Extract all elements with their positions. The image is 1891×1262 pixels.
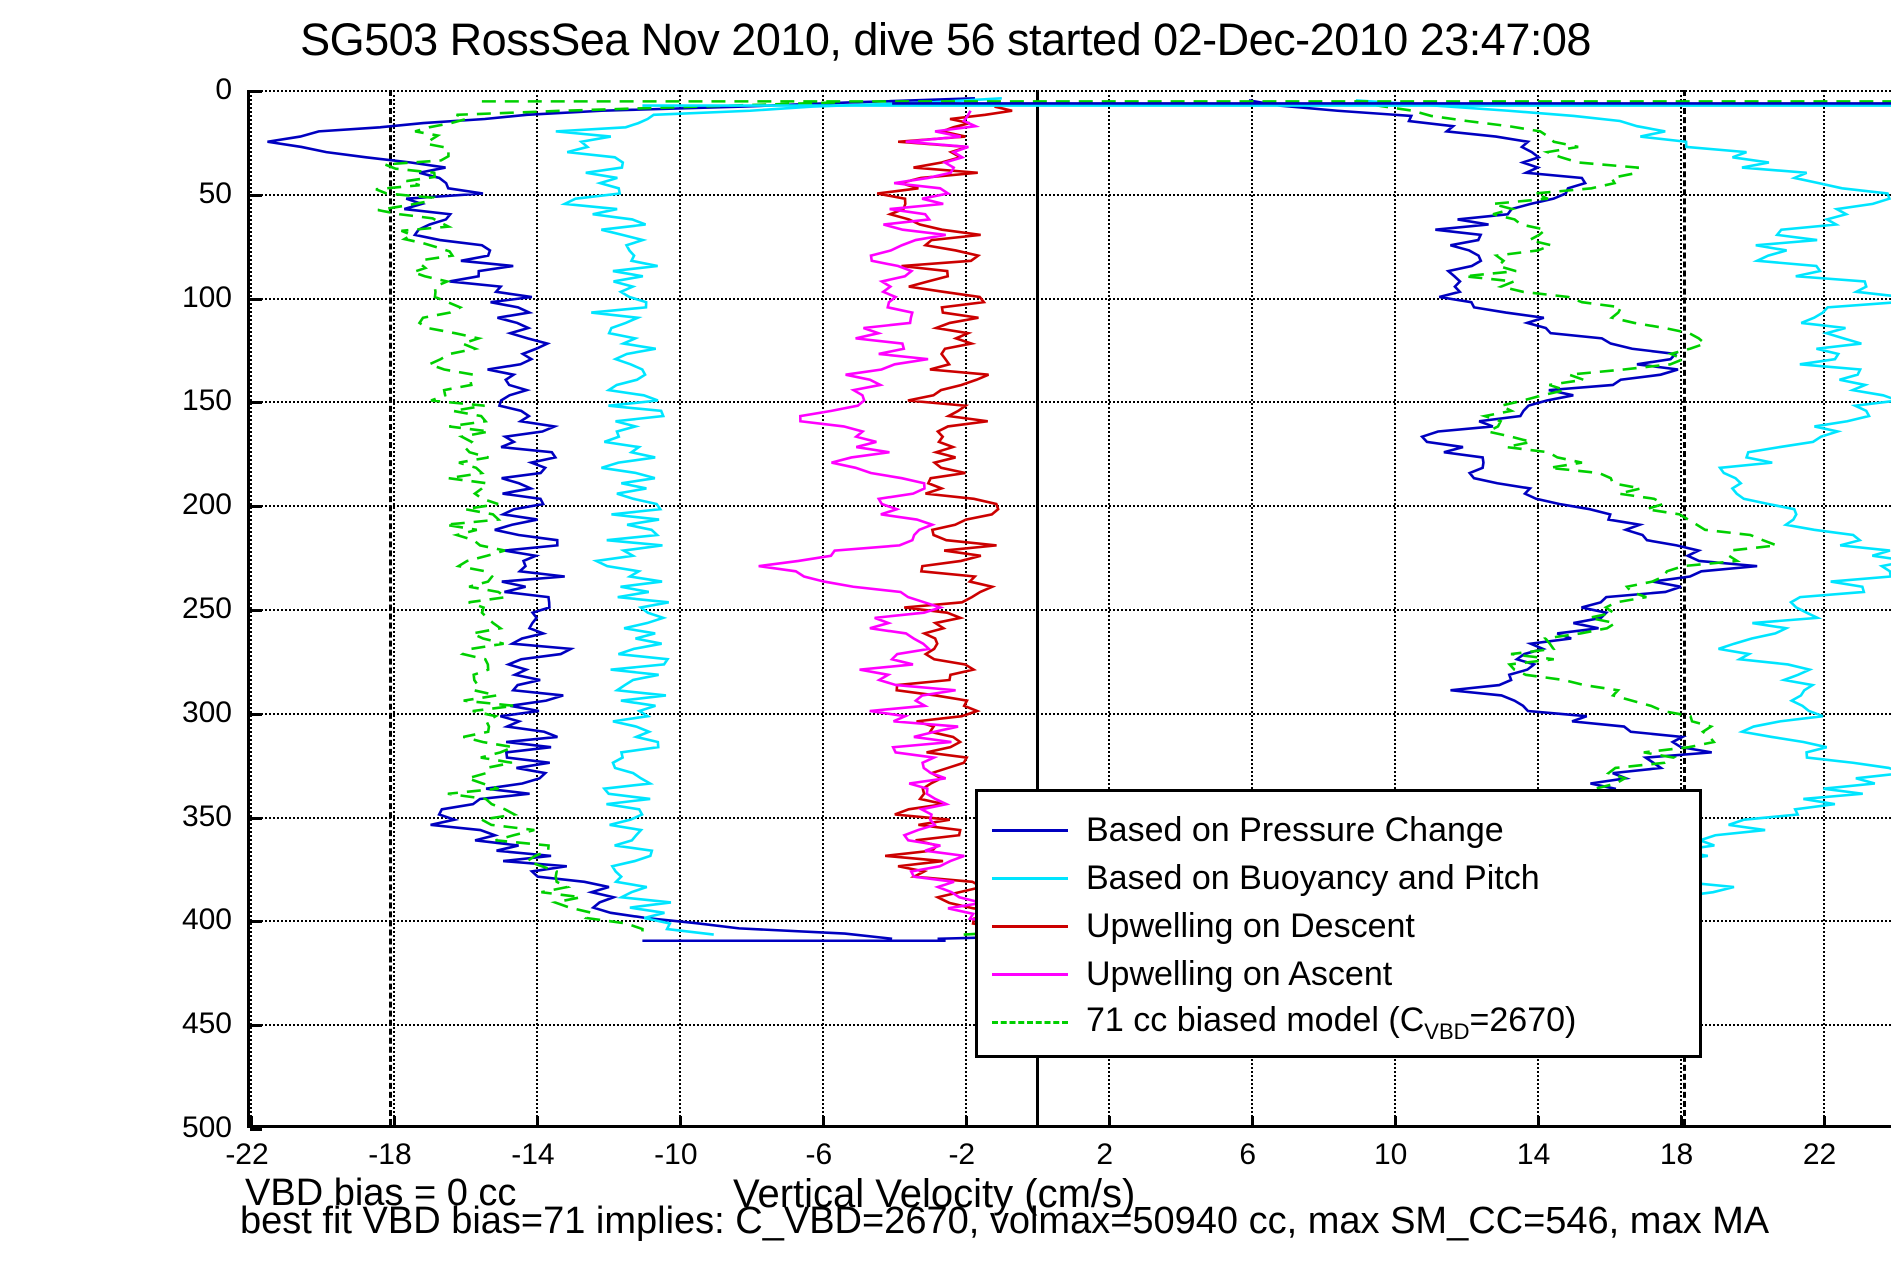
y-tick-label: 300 bbox=[142, 698, 232, 728]
legend-label: 71 cc biased model (CVBD=2670) bbox=[1086, 1002, 1576, 1042]
trace-0-descent bbox=[267, 98, 975, 938]
page-title: SG503 RossSea Nov 2010, dive 56 started … bbox=[0, 12, 1891, 68]
y-tick-mark bbox=[250, 1024, 262, 1027]
legend-entry-2[interactable]: Upwelling on Descent bbox=[978, 902, 1699, 950]
y-tick-label: 0 bbox=[142, 75, 232, 105]
legend-label: Based on Buoyancy and Pitch bbox=[1086, 860, 1540, 896]
y-tick-mark bbox=[250, 817, 262, 820]
y-tick-mark bbox=[250, 505, 262, 508]
x-tick-mark bbox=[536, 1116, 539, 1128]
x-tick-label: -10 bbox=[654, 1140, 697, 1170]
legend-swatch-icon bbox=[992, 1021, 1068, 1024]
legend-entry-0[interactable]: Based on Pressure Change bbox=[978, 806, 1699, 854]
y-tick-mark bbox=[250, 401, 262, 404]
legend: Based on Pressure ChangeBased on Buoyanc… bbox=[975, 789, 1702, 1058]
x-tick-label: -14 bbox=[511, 1140, 554, 1170]
legend-swatch-icon bbox=[992, 973, 1068, 976]
x-tick-mark bbox=[1680, 1116, 1683, 1128]
y-tick-label: 50 bbox=[142, 179, 232, 209]
x-tick-mark bbox=[1823, 1116, 1826, 1128]
y-tick-mark bbox=[250, 609, 262, 612]
x-tick-mark bbox=[393, 1116, 396, 1128]
y-tick-mark bbox=[250, 298, 262, 301]
x-tick-mark bbox=[679, 1116, 682, 1128]
y-tick-mark bbox=[250, 713, 262, 716]
legend-entry-4[interactable]: 71 cc biased model (CVBD=2670) bbox=[978, 998, 1699, 1046]
legend-entry-1[interactable]: Based on Buoyancy and Pitch bbox=[978, 854, 1699, 902]
x-tick-mark bbox=[250, 1116, 253, 1128]
legend-swatch-icon bbox=[992, 829, 1068, 832]
legend-label: Upwelling on Ascent bbox=[1086, 956, 1392, 992]
trace-1-descent bbox=[556, 98, 1002, 934]
y-tick-mark bbox=[250, 194, 262, 197]
x-tick-label: -6 bbox=[805, 1140, 832, 1170]
x-tick-mark bbox=[965, 1116, 968, 1128]
legend-swatch-icon bbox=[992, 925, 1068, 928]
x-tick-label: 10 bbox=[1374, 1140, 1407, 1170]
legend-label: Upwelling on Descent bbox=[1086, 908, 1415, 944]
legend-label: Based on Pressure Change bbox=[1086, 812, 1504, 848]
y-tick-mark bbox=[250, 920, 262, 923]
x-tick-mark bbox=[1537, 1116, 1540, 1128]
x-tick-mark bbox=[1108, 1116, 1111, 1128]
y-tick-label: 450 bbox=[142, 1009, 232, 1039]
y-tick-label: 150 bbox=[142, 386, 232, 416]
y-tick-label: 100 bbox=[142, 283, 232, 313]
x-tick-mark bbox=[1394, 1116, 1397, 1128]
y-tick-label: 250 bbox=[142, 594, 232, 624]
x-tick-label: -2 bbox=[948, 1140, 975, 1170]
y-tick-mark bbox=[250, 90, 262, 93]
x-tick-mark bbox=[1251, 1116, 1254, 1128]
x-tick-label: 18 bbox=[1660, 1140, 1693, 1170]
x-tick-mark bbox=[822, 1116, 825, 1128]
legend-entry-3[interactable]: Upwelling on Ascent bbox=[978, 950, 1699, 998]
y-tick-mark bbox=[250, 1128, 262, 1131]
x-tick-label: 22 bbox=[1803, 1140, 1836, 1170]
y-tick-label: 350 bbox=[142, 802, 232, 832]
y-tick-label: 400 bbox=[142, 905, 232, 935]
footer-annotation: best fit VBD bias=71 implies: C_VBD=2670… bbox=[240, 1200, 1769, 1242]
x-tick-label: 2 bbox=[1096, 1140, 1113, 1170]
x-tick-label: 14 bbox=[1517, 1140, 1550, 1170]
x-tick-label: -22 bbox=[225, 1140, 268, 1170]
y-tick-label: 500 bbox=[142, 1113, 232, 1143]
x-tick-label: -18 bbox=[368, 1140, 411, 1170]
legend-swatch-icon bbox=[992, 877, 1068, 880]
y-tick-label: 200 bbox=[142, 490, 232, 520]
x-tick-label: 6 bbox=[1239, 1140, 1256, 1170]
